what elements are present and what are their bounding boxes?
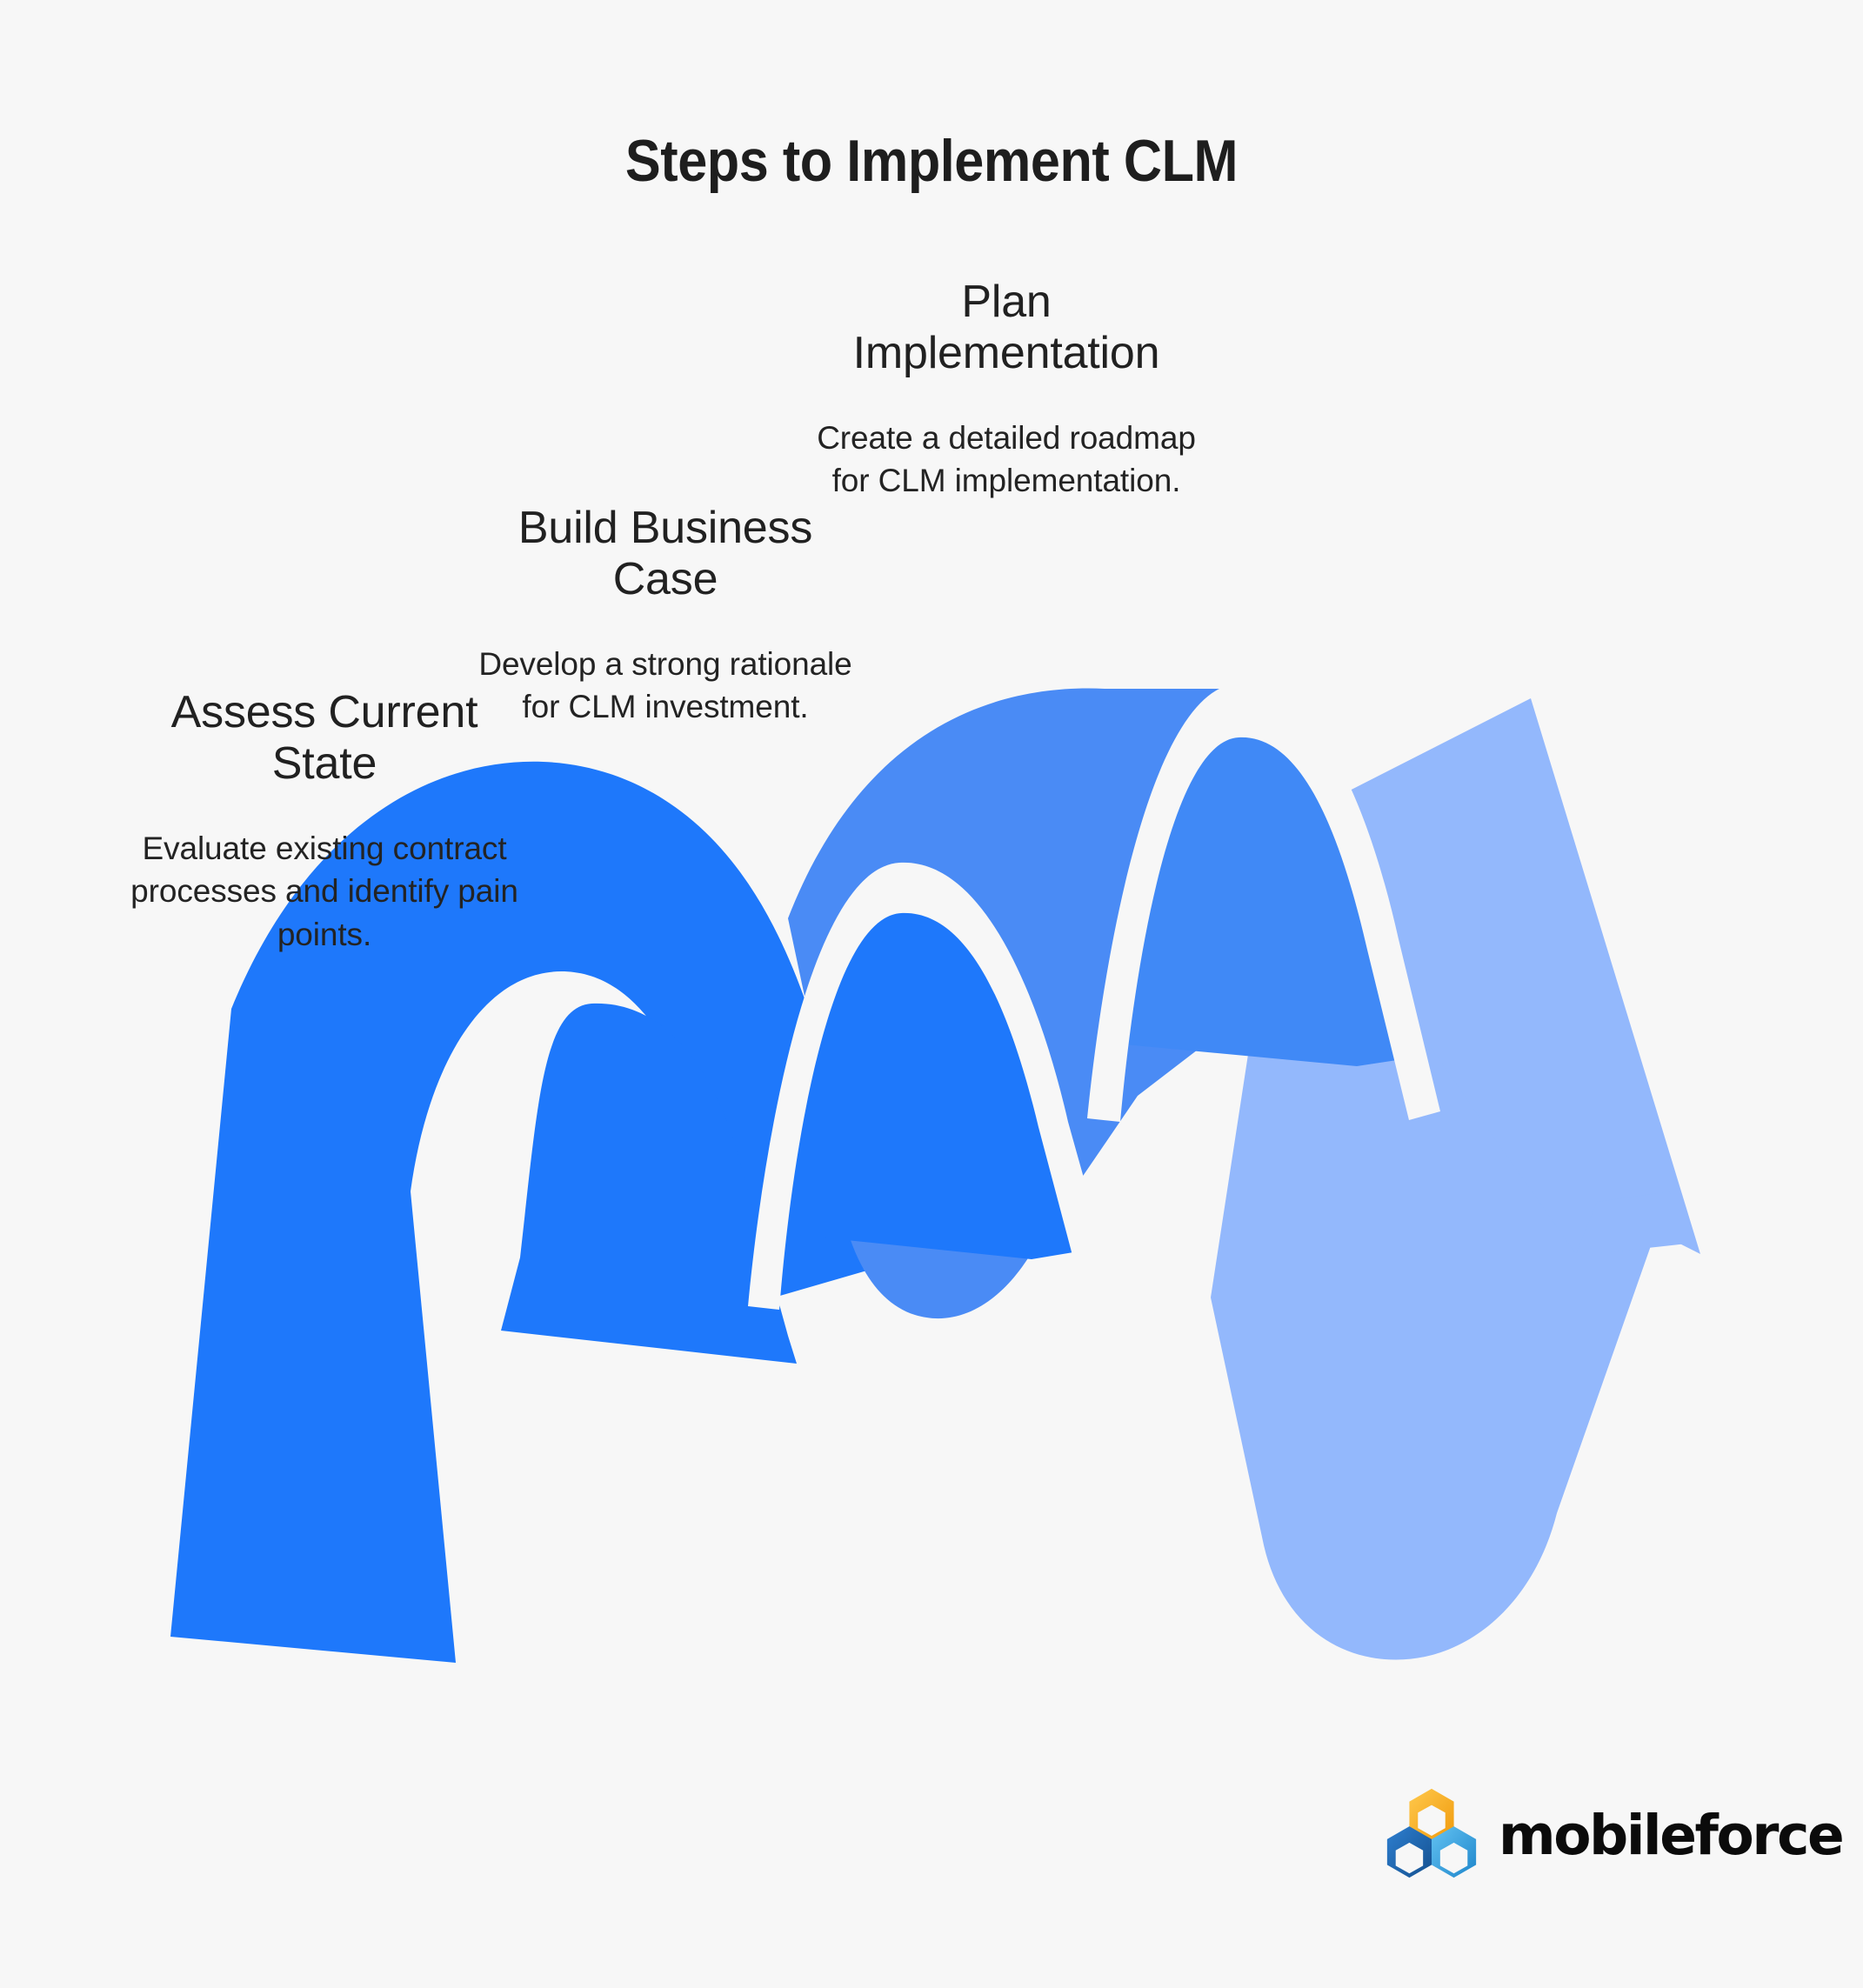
step-3-description: Create a detailed roadmap for CLM implem… [811,417,1202,504]
logo-wordmark: mobileforce [1499,1808,1842,1863]
step-3: Plan Implementation Create a detailed ro… [811,277,1202,503]
step-3-heading: Plan Implementation [811,277,1202,380]
step-1: Assess Current State Evaluate existing c… [129,687,520,957]
step-1-heading: Assess Current State [129,687,520,791]
step-2: Build Business Case Develop a strong rat… [470,503,861,729]
three-hexagon-logo-mark-icon [1380,1784,1483,1886]
page-title: Steps to Implement CLM [93,127,1770,195]
step-2-heading: Build Business Case [470,503,861,606]
step-1-description: Evaluate existing contract processes and… [129,827,520,957]
mobileforce-logo: mobileforce [1380,1778,1746,1891]
infographic-canvas: Steps to Implement CLM [0,0,1863,1988]
step-2-description: Develop a strong rationale for CLM inves… [470,643,861,730]
